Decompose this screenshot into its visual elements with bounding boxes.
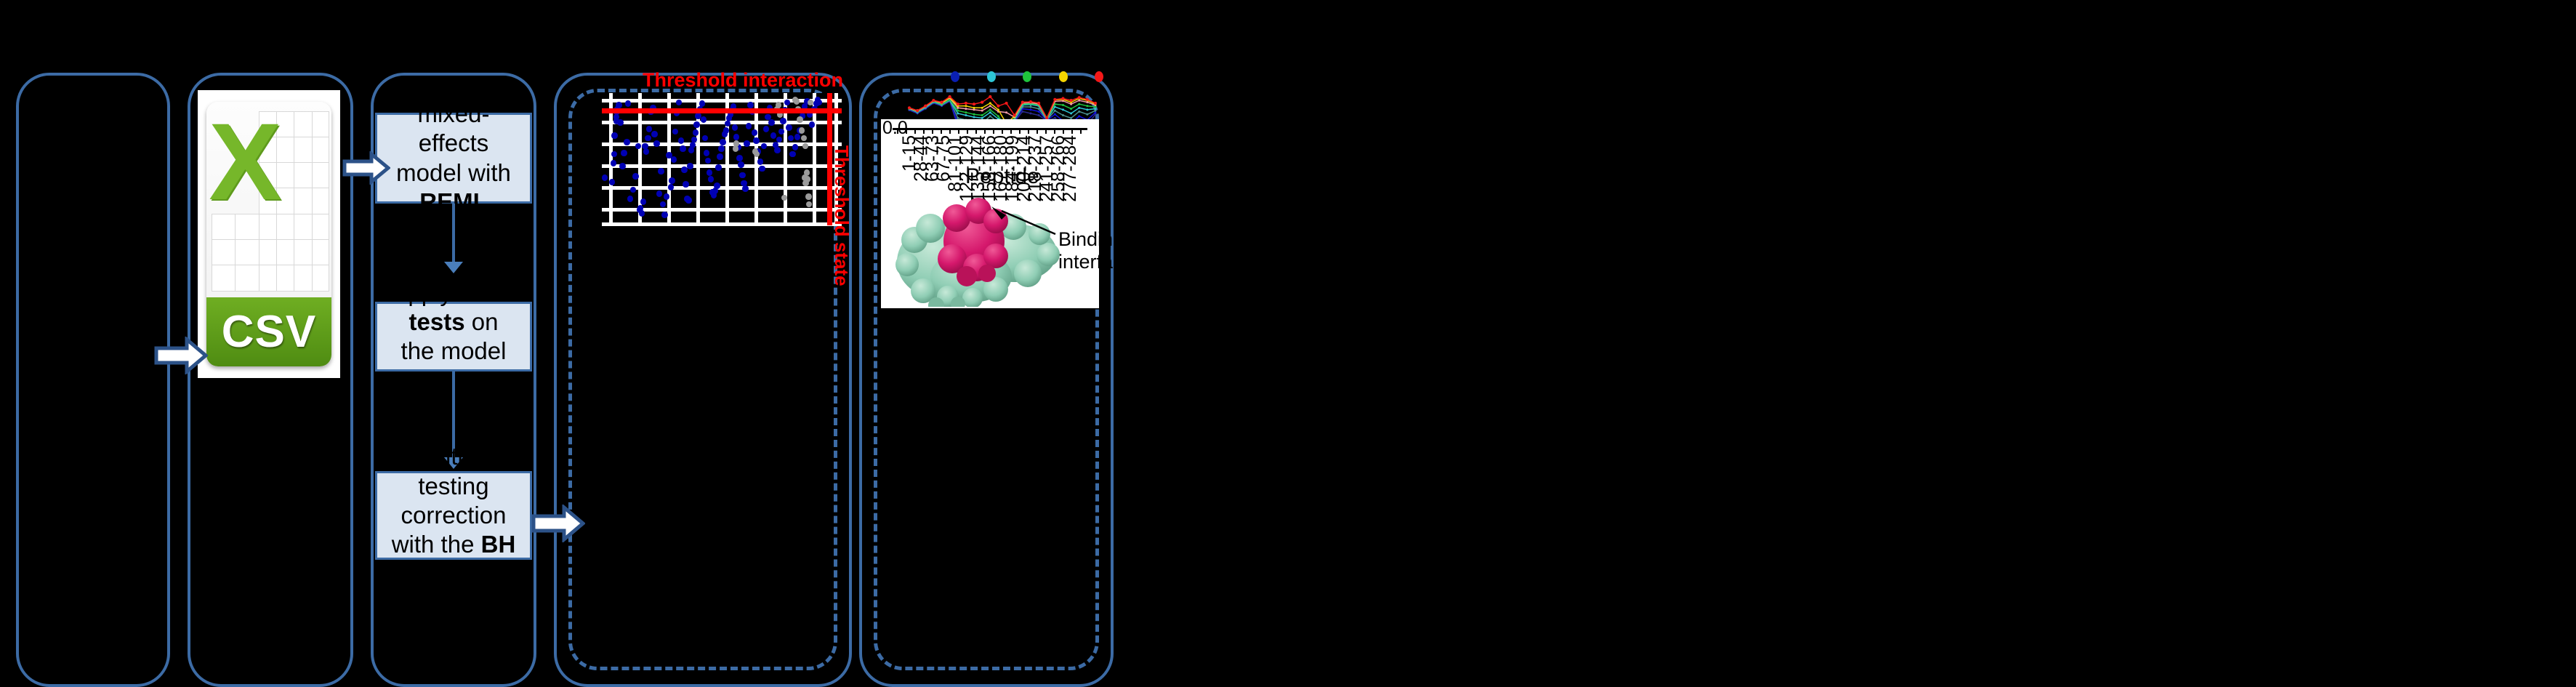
scatter-point xyxy=(802,180,808,187)
scatter-point xyxy=(668,184,674,190)
scatter-point xyxy=(681,166,687,173)
csv-label-text: CSV xyxy=(222,306,316,358)
axis-tick xyxy=(1028,128,1029,134)
chart-series-marker xyxy=(949,95,951,98)
chart-series-marker xyxy=(1078,111,1080,113)
axis-tick xyxy=(984,128,986,134)
axis-tick xyxy=(1080,128,1082,134)
csv-label-bar: CSV xyxy=(206,297,331,366)
protein-surface-svg xyxy=(885,183,1067,307)
scatter-point xyxy=(699,100,705,107)
chart-series-marker xyxy=(989,105,991,107)
chart-series-marker xyxy=(989,111,991,113)
scatter-point xyxy=(799,127,805,134)
chart-series-marker xyxy=(981,110,983,112)
chart-series-marker xyxy=(932,99,935,102)
scatter-point xyxy=(768,119,774,126)
scatter-point xyxy=(619,163,625,169)
grid-line-h xyxy=(602,186,842,190)
chart-series-marker xyxy=(1078,103,1080,105)
axis-tick xyxy=(993,128,994,134)
scatter-point xyxy=(639,210,645,217)
scatter-point xyxy=(746,123,752,129)
scatter-point xyxy=(616,102,621,108)
scatter-point xyxy=(708,176,714,182)
chart-series-marker xyxy=(1070,99,1073,102)
scatter-point xyxy=(788,135,794,142)
connector-arrowhead-wald xyxy=(444,262,463,273)
scatter-point xyxy=(656,190,662,197)
axis-tick xyxy=(1054,128,1055,134)
chart-series-marker xyxy=(965,111,967,113)
scatter-point xyxy=(669,177,675,184)
chart-series-marker xyxy=(1086,105,1088,107)
legend-dot xyxy=(987,71,996,82)
connector-reml-to-wald xyxy=(452,204,455,263)
scatter-point xyxy=(701,116,707,123)
scatter-point xyxy=(687,163,693,169)
scatter-point xyxy=(770,132,776,139)
step-bh-text: Multiple testingcorrectionwith the BH pr… xyxy=(383,442,524,588)
chart-series-marker xyxy=(1078,96,1081,99)
chart-series-marker xyxy=(1070,113,1072,115)
axis-tick xyxy=(975,128,977,134)
scatter-point xyxy=(802,143,808,150)
scatter-point xyxy=(705,158,711,164)
scatter-point xyxy=(624,139,629,145)
chart-series-marker xyxy=(1095,110,1097,112)
scatter-point xyxy=(794,98,800,105)
chart-series-marker xyxy=(1013,113,1016,116)
chart-series-marker xyxy=(1078,107,1080,109)
scatter-point xyxy=(714,182,720,189)
chart-series-marker xyxy=(973,103,975,105)
axis-tick xyxy=(1071,128,1073,134)
grid-line-h xyxy=(602,164,842,168)
scatter-point xyxy=(789,151,795,158)
step-bh-box[interactable]: Multiple testingcorrectionwith the BH pr… xyxy=(375,471,532,560)
arrow-input-to-csv xyxy=(154,337,208,374)
scatter-point xyxy=(736,155,742,161)
chart-series-marker xyxy=(1070,103,1072,105)
scatter-point xyxy=(602,174,608,181)
scatter-point xyxy=(627,196,633,202)
chart-series-marker xyxy=(989,108,991,111)
chart-series-marker xyxy=(981,114,983,116)
scatter-point xyxy=(805,193,811,200)
scatter-point xyxy=(733,145,738,152)
chart-series-marker xyxy=(1005,111,1007,113)
axis-tick xyxy=(1010,128,1012,134)
scatter-point xyxy=(776,137,782,143)
scatter-point xyxy=(660,201,666,208)
legend-dot xyxy=(951,71,959,82)
scatter-point xyxy=(707,169,712,176)
scatter-point xyxy=(816,100,822,106)
chart-series-marker xyxy=(1054,113,1056,116)
chart-series-marker xyxy=(1029,108,1031,111)
chart-series-marker xyxy=(1086,113,1088,116)
chart-series-marker xyxy=(973,107,975,109)
scatter-point xyxy=(702,135,708,142)
scatter-point xyxy=(797,116,802,123)
scatter-point xyxy=(792,144,798,150)
chart-series-marker xyxy=(1062,114,1064,116)
peptide-axis-line xyxy=(893,128,1087,130)
chart-series-marker xyxy=(1070,108,1072,110)
arrow-csv-to-model xyxy=(342,151,390,185)
chart-series-marker xyxy=(973,113,975,116)
legend-dot xyxy=(1095,71,1103,82)
scatter-point xyxy=(704,150,709,156)
scatter-point xyxy=(630,187,636,193)
scatter-point xyxy=(651,131,657,137)
chart-series-marker xyxy=(1021,101,1024,104)
scatter-point xyxy=(683,181,688,188)
chart-series-marker xyxy=(989,102,991,104)
grid-line-h xyxy=(602,121,842,124)
chart-series-marker xyxy=(1062,104,1064,106)
scatter-point xyxy=(723,127,729,134)
chart-series-marker xyxy=(989,115,991,117)
chart-series-marker xyxy=(965,102,967,105)
chart-series-marker xyxy=(1037,102,1040,105)
scatter-point xyxy=(685,197,691,204)
axis-tick xyxy=(932,128,933,134)
chart-series-marker xyxy=(1086,108,1088,111)
scatter-point xyxy=(671,156,677,163)
chart-series-marker xyxy=(1095,106,1097,108)
scatter-point xyxy=(690,142,696,148)
threshold-interaction-label: Threshold interaction xyxy=(643,69,843,92)
scatter-point xyxy=(718,145,724,152)
csv-file-icon: X CSV xyxy=(198,90,340,378)
axis-tick xyxy=(967,128,968,134)
chart-series-marker xyxy=(1029,106,1031,108)
scatter-point xyxy=(794,134,800,140)
scatter-point xyxy=(742,185,748,192)
scatter-point xyxy=(643,148,649,155)
scatter-point xyxy=(715,164,721,171)
chart-series-marker xyxy=(965,105,967,107)
scatter-point xyxy=(759,166,765,172)
binding-interface-arrow xyxy=(989,205,1058,238)
scatter-point xyxy=(611,151,617,158)
chart-series-marker xyxy=(997,108,999,111)
axis-tick xyxy=(1019,128,1021,134)
threshold-interaction-line xyxy=(602,108,842,113)
chart-series-marker xyxy=(1038,114,1040,116)
scatter-point xyxy=(658,168,664,174)
chart-series-marker xyxy=(1005,102,1007,105)
panel-input-stage xyxy=(16,73,170,687)
axis-tick xyxy=(1002,128,1003,134)
chart-series-marker xyxy=(1062,108,1064,111)
chart-series-marker xyxy=(1053,98,1056,101)
axis-tick xyxy=(1063,128,1064,134)
scatter-point xyxy=(776,102,781,108)
chart-series-marker xyxy=(1094,102,1097,105)
chart-series-marker xyxy=(957,113,959,115)
scatter-point xyxy=(739,172,745,179)
scatter-point xyxy=(784,100,790,106)
binding-interface-label: Binding interface xyxy=(1058,228,1134,274)
chart-series-marker xyxy=(997,115,999,117)
scatter-point xyxy=(672,129,678,135)
scatter-point xyxy=(640,198,646,205)
structure-white-card: 0.0 1-1528-4463-7367-7581-101122-129135-… xyxy=(881,119,1099,308)
axis-tick xyxy=(923,128,925,134)
scatter-plot xyxy=(602,93,842,225)
chart-series-marker xyxy=(924,105,927,108)
chart-series-marker xyxy=(1029,113,1031,115)
chart-series-marker xyxy=(997,105,999,108)
legend-dot xyxy=(1059,71,1068,82)
scatter-point xyxy=(774,147,780,153)
scatter-point xyxy=(780,118,786,124)
chart-series-marker xyxy=(1095,111,1097,113)
binding-label-line2: interface xyxy=(1058,251,1134,273)
scatter-point xyxy=(621,150,627,156)
scatter-point xyxy=(661,212,667,218)
chart-series-marker xyxy=(981,101,983,104)
scatter-point xyxy=(754,151,760,158)
chart-series-marker xyxy=(1029,100,1032,103)
chart-series-marker xyxy=(1054,110,1056,112)
chart-series-marker xyxy=(1086,101,1088,103)
csv-tile: X CSV xyxy=(206,102,331,366)
axis-tick xyxy=(958,128,959,134)
scatter-point xyxy=(763,126,769,132)
chart-series-marker xyxy=(973,116,975,118)
axis-tick xyxy=(906,128,907,134)
scatter-point xyxy=(632,173,638,180)
chart-series-marker xyxy=(940,101,943,104)
scatter-point xyxy=(786,124,792,131)
chart-series-marker xyxy=(957,107,959,109)
scatter-point xyxy=(806,201,812,208)
scatter-point xyxy=(680,145,685,152)
scatter-point xyxy=(717,153,723,160)
scatter-point xyxy=(609,179,615,185)
chart-series-marker xyxy=(965,108,967,110)
csv-x-glyph: X xyxy=(209,107,261,244)
chart-series-marker xyxy=(957,110,959,112)
scatter-point xyxy=(753,137,759,144)
scatter-point xyxy=(733,134,739,140)
chart-series-marker xyxy=(1078,115,1080,117)
chart-series-marker xyxy=(1038,111,1040,113)
scatter-point xyxy=(747,102,753,108)
threshold-state-label: Threshold state xyxy=(830,145,853,286)
scatter-point xyxy=(645,135,651,142)
axis-tick xyxy=(949,128,951,134)
chart-series-marker xyxy=(989,95,991,98)
chart-series-marker xyxy=(1095,108,1097,110)
scatter-point xyxy=(720,139,725,145)
chart-series-marker xyxy=(973,108,975,111)
step-reml-box[interactable]: Fit a linear mixed-effects model withREM… xyxy=(375,113,532,204)
chart-series-marker xyxy=(1078,100,1080,102)
grid-line-h xyxy=(602,222,842,226)
scatter-point xyxy=(691,137,697,143)
binding-label-line1: Binding xyxy=(1058,228,1134,251)
scatter-point xyxy=(744,140,749,147)
legend-dot xyxy=(1023,71,1031,82)
scatter-point xyxy=(732,124,738,131)
step-wald-box[interactable]: Apply Wald tests onthe model parameters xyxy=(375,302,532,371)
chart-series-marker xyxy=(1086,98,1089,101)
scatter-point xyxy=(646,126,652,132)
scatter-point xyxy=(801,135,807,142)
scatter-point xyxy=(738,161,744,168)
scatter-point xyxy=(653,140,659,147)
axis-tick xyxy=(897,128,898,134)
scatter-point xyxy=(617,119,623,126)
protein-structure-image xyxy=(885,183,1067,307)
chart-series-marker xyxy=(916,109,919,112)
arrow-model-to-results xyxy=(531,505,585,542)
scatter-point xyxy=(725,121,730,127)
chart-series-marker xyxy=(908,106,911,109)
scatter-point xyxy=(664,193,669,200)
chart-series-marker xyxy=(981,107,983,109)
scatter-point xyxy=(611,132,617,139)
scatter-point xyxy=(693,129,699,136)
chart-series-marker xyxy=(965,114,967,116)
scatter-point xyxy=(625,100,631,107)
axis-tick xyxy=(941,128,942,134)
axis-tick xyxy=(1037,128,1038,134)
axis-tick xyxy=(1045,128,1047,134)
chart-series-marker xyxy=(1061,97,1064,100)
axis-tick xyxy=(914,128,916,134)
scatter-point xyxy=(761,143,767,150)
peptide-chart-legend xyxy=(951,71,1103,83)
scatter-point xyxy=(676,100,682,106)
chart-series-marker xyxy=(957,103,959,105)
